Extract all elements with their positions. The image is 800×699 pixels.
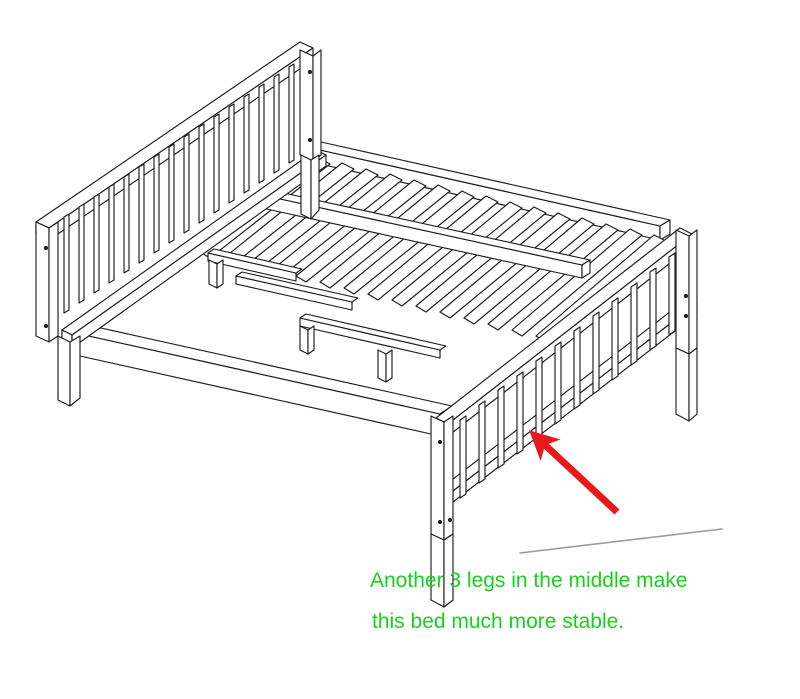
drawing-canvas: Another 3 legs in the middle make this b… — [0, 0, 800, 699]
annotation-caption: Another 3 legs in the middle make this b… — [370, 560, 790, 642]
headboard-leg-near-left — [58, 336, 80, 406]
middle-leg-3 — [378, 350, 392, 382]
cross-brace-lower — [300, 314, 446, 358]
middle-leg-1 — [209, 260, 223, 288]
leader-line — [520, 529, 722, 553]
footboard-leg-far-right — [676, 348, 697, 421]
annotation-caption-line-2: this bed much more stable. — [370, 601, 790, 642]
middle-leg-2 — [300, 326, 314, 354]
headboard — [36, 42, 326, 348]
bed-line-art — [36, 42, 697, 607]
red-annotation-arrow — [545, 445, 617, 512]
headboard-leg-far-right — [301, 155, 319, 219]
annotation-caption-line-1: Another 3 legs in the middle make — [370, 560, 790, 601]
